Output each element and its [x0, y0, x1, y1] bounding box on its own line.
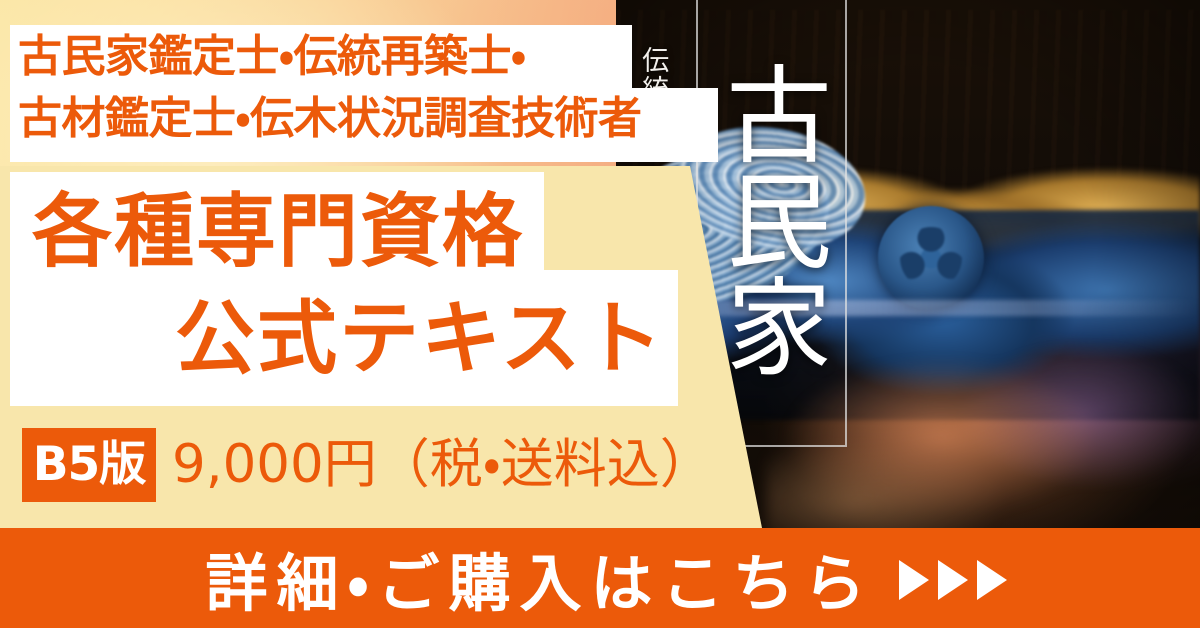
cta-inner: 詳細・ご購入はこちら: [0, 528, 1200, 628]
cta-arrows: [899, 560, 1007, 600]
cta-label: 詳細・ご購入はこちら: [193, 533, 874, 623]
triangle-right-icon: [899, 560, 929, 600]
headline: 古民家鑑定士・伝統再築士・ 古材鑑定士・伝木状況調査技術者: [18, 26, 730, 150]
price-text: 9,000円（税・送料込）: [172, 428, 713, 502]
promo-banner: 古民家 伝統構法 古民家活用のための調査と再生の 古民家鑑定士・伝統再築士・ 古…: [0, 0, 1200, 628]
triangle-right-icon: [938, 560, 968, 600]
subhead: 各種専門資格 公式テキスト: [10, 178, 678, 392]
headline-line1: 古民家鑑定士・伝統再築士・: [18, 26, 730, 88]
subhead-line1: 各種専門資格: [10, 178, 678, 285]
cta-bar[interactable]: 詳細・ご購入はこちら: [0, 528, 1200, 628]
subhead-line2: 公式テキスト: [10, 285, 678, 392]
format-badge: B5版: [22, 428, 156, 502]
triangle-right-icon: [977, 560, 1007, 600]
headline-line2: 古材鑑定士・伝木状況調査技術者: [18, 88, 730, 150]
